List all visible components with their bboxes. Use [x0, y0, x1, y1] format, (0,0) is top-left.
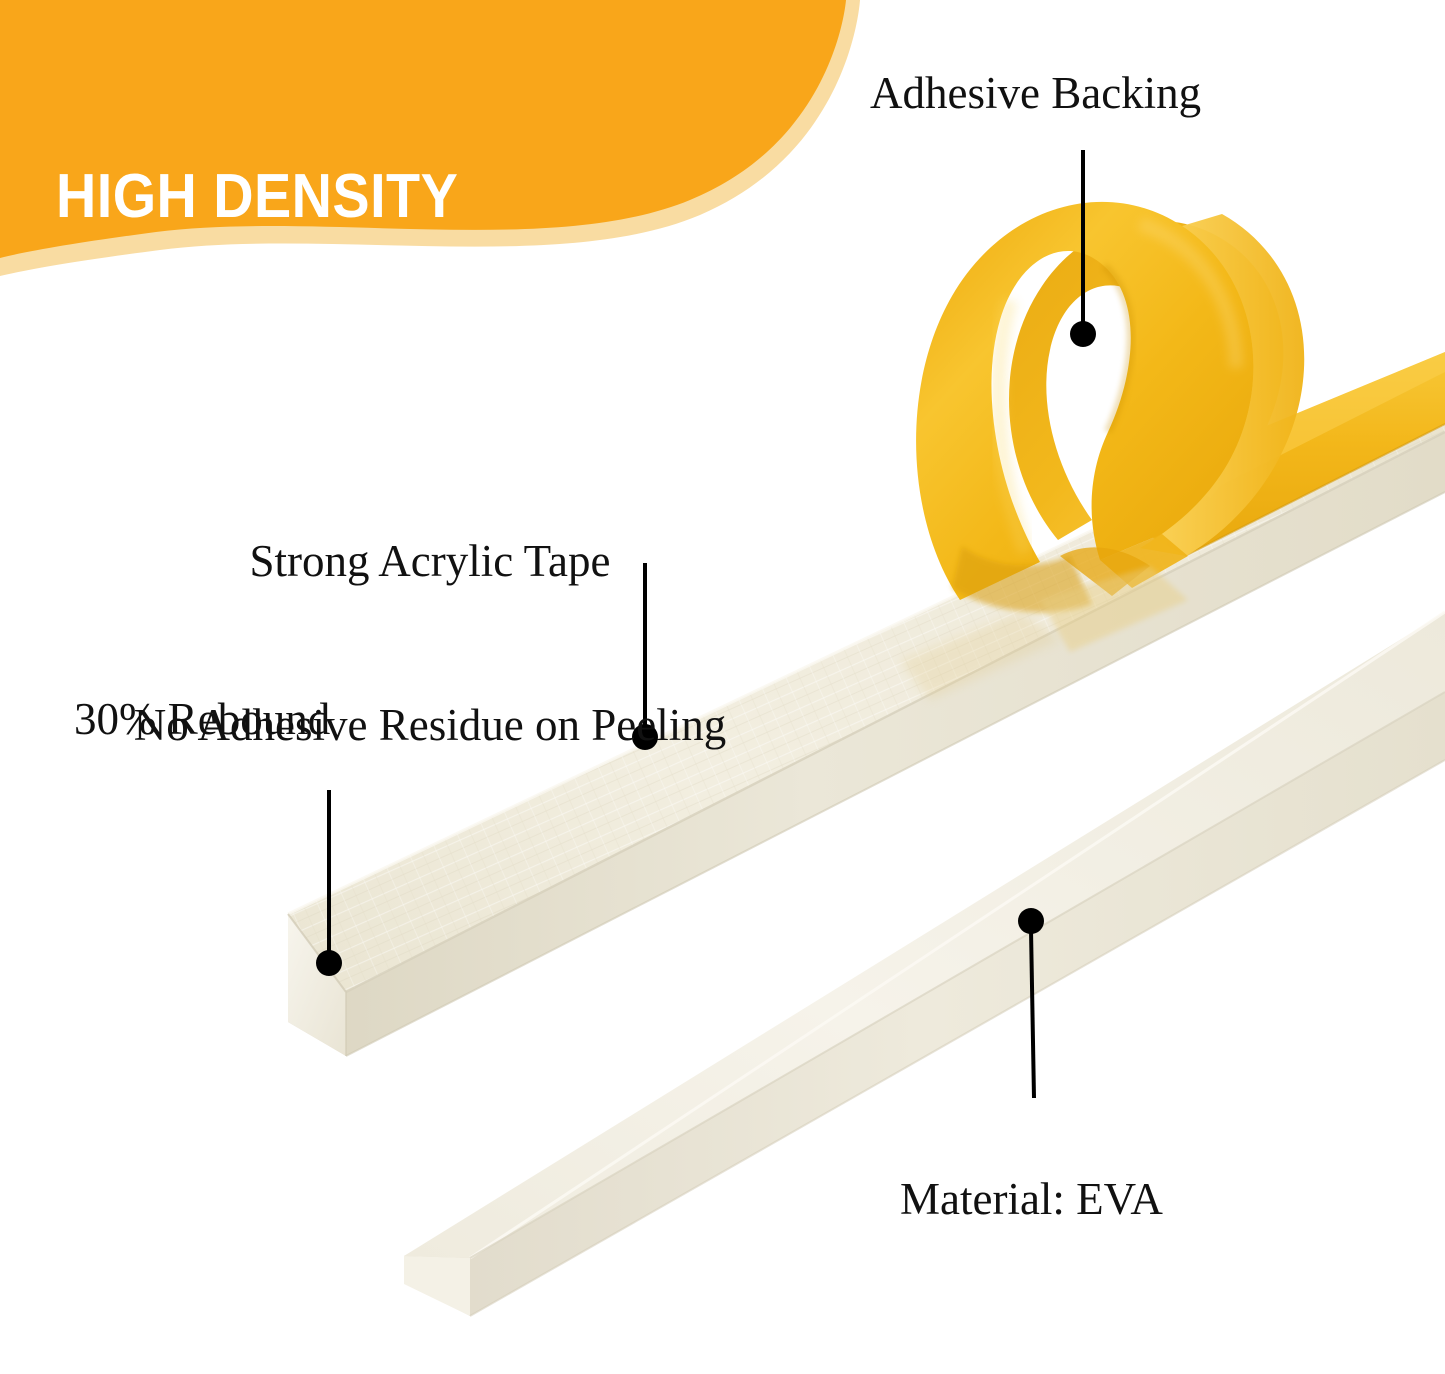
- label-acrylic-tape-line-1: Strong Acrylic Tape: [40, 534, 820, 589]
- label-material-eva: Material: EVA: [900, 1172, 1163, 1227]
- product-infographic: HIGH DENSITY NO RESIDUE Adhesive Backing…: [0, 0, 1445, 1374]
- banner-title-line-1: HIGH DENSITY: [56, 165, 614, 229]
- label-acrylic-tape: Strong Acrylic Tape No Adhesive Residue …: [40, 424, 820, 863]
- label-rebound: 30% Rebound: [74, 692, 330, 747]
- banner-title-line-2: NO RESIDUE: [56, 358, 614, 422]
- label-adhesive-backing: Adhesive Backing: [870, 66, 1201, 121]
